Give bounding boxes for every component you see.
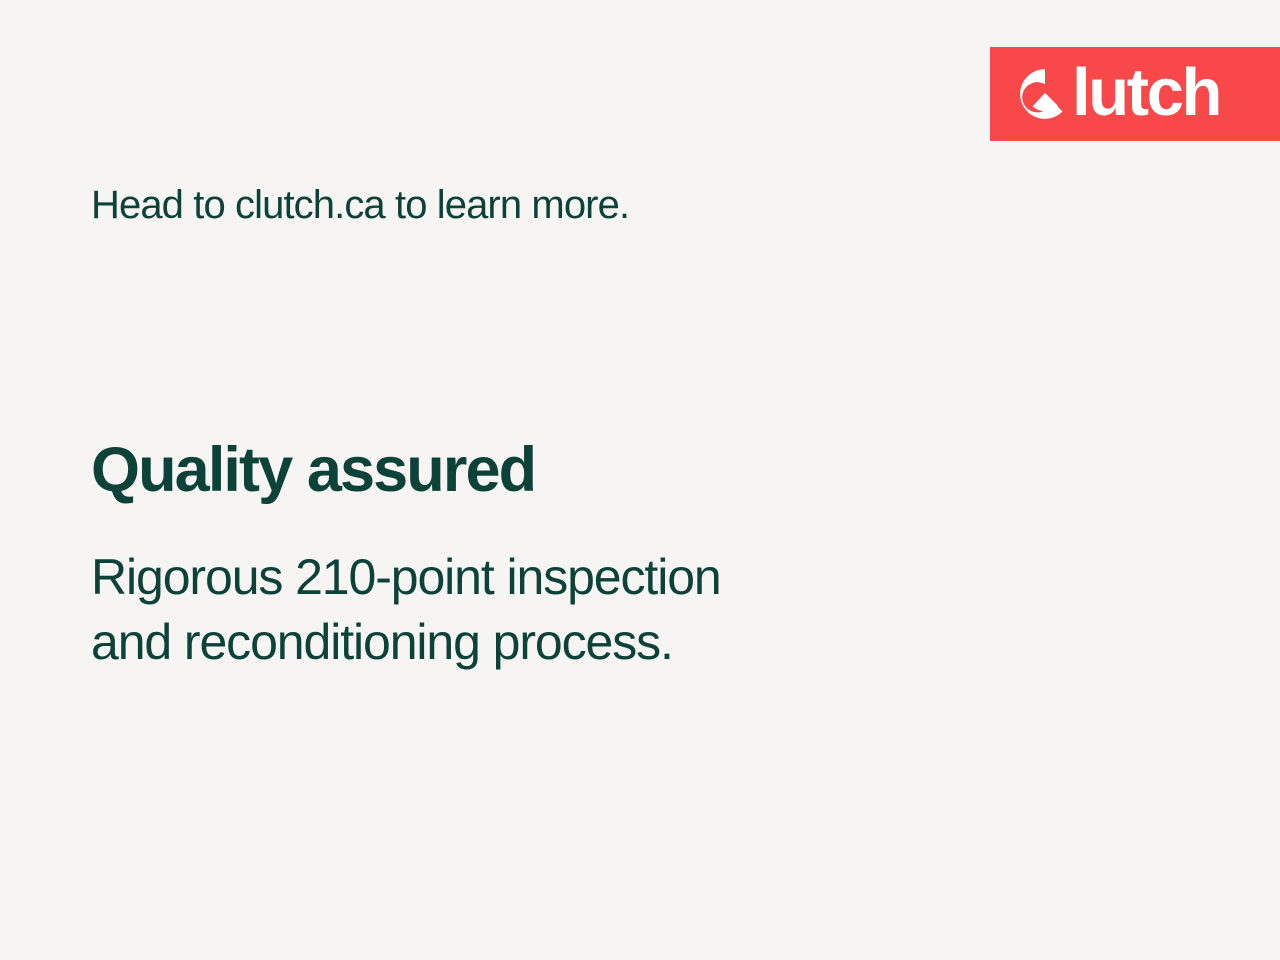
clutch-c-pie-mark-icon <box>1018 67 1072 121</box>
clutch-wordmark-text: lutch <box>1072 59 1220 126</box>
page-title: Quality assured <box>91 436 535 505</box>
clutch-logo-lockup: lutch <box>1018 47 1220 141</box>
subcopy-line-2: and reconditioning process. <box>91 610 721 675</box>
lead-line-text: Head to clutch.ca to learn more. <box>91 182 629 228</box>
clutch-logo-badge[interactable]: lutch <box>990 47 1280 141</box>
subcopy-block: Rigorous 210-point inspection and recond… <box>91 545 721 675</box>
subcopy-line-1: Rigorous 210-point inspection <box>91 545 721 610</box>
slide-canvas: lutch Head to clutch.ca to learn more. Q… <box>0 0 1280 960</box>
